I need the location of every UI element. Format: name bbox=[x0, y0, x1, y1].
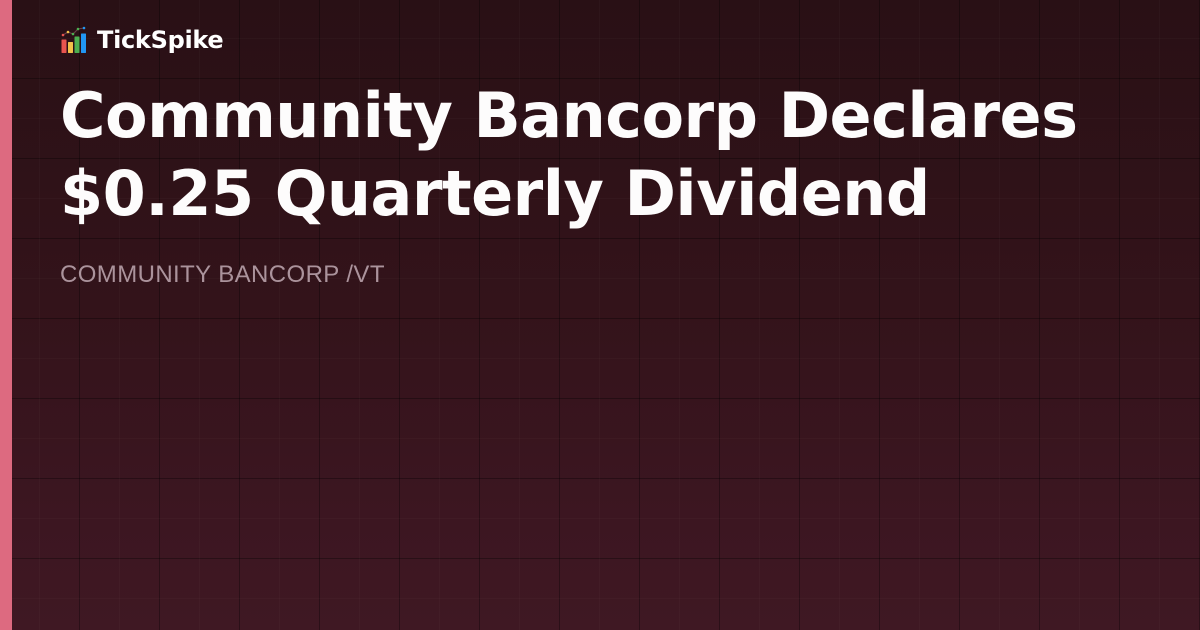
headline-line-2: $0.25 Quarterly Dividend bbox=[60, 157, 930, 230]
headline-line-1: Community Bancorp Declares bbox=[60, 79, 1077, 152]
company-subtitle: COMMUNITY BANCORP /VT bbox=[60, 261, 385, 289]
og-card: TickSpike Community Bancorp Declares $0.… bbox=[0, 0, 1200, 630]
brand-name: TickSpike bbox=[97, 26, 223, 54]
bar-chart-icon bbox=[60, 26, 88, 54]
page-title: Community Bancorp Declares $0.25 Quarter… bbox=[60, 77, 1145, 233]
left-accent-bar bbox=[0, 0, 12, 630]
content-container: TickSpike Community Bancorp Declares $0.… bbox=[60, 0, 1150, 630]
brand-logo[interactable]: TickSpike bbox=[60, 25, 223, 55]
